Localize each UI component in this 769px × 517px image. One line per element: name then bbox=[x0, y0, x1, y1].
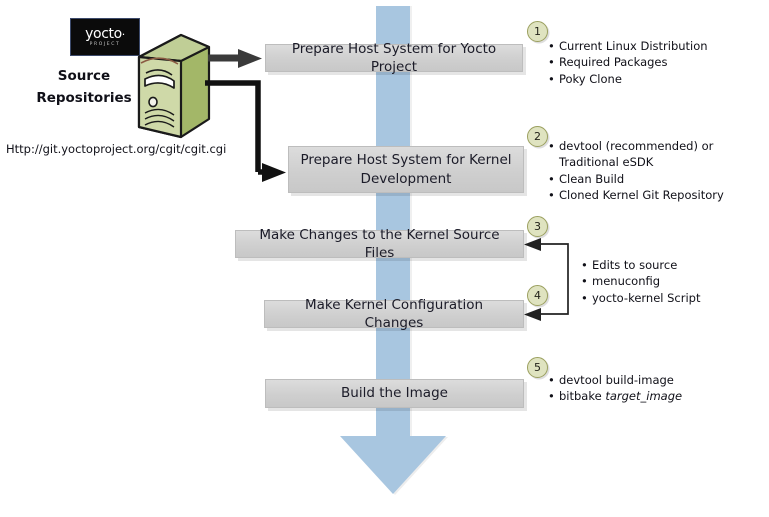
list-item: Clean Build bbox=[559, 171, 760, 187]
list-item: Required Packages bbox=[559, 54, 760, 70]
process-box-step-2[interactable]: Prepare Host System for Kernel Developme… bbox=[288, 146, 524, 193]
step-badge-4: 4 bbox=[527, 285, 548, 306]
diagram-canvas: yocto· PROJECT Source Repositories Http:… bbox=[0, 0, 769, 517]
list-item: menuconfig bbox=[592, 273, 763, 289]
feedback-bracket-icon bbox=[524, 238, 568, 321]
list-item: devtool build-image bbox=[559, 372, 760, 388]
arrow-right-icon bbox=[208, 49, 262, 68]
list-item: devtool (recommended) or Traditional eSD… bbox=[559, 138, 760, 171]
bitbake-target-arg: target_image bbox=[605, 389, 682, 403]
arrow-right-elbow-icon bbox=[205, 83, 286, 182]
list-item: Edits to source bbox=[592, 257, 763, 273]
process-box-step-2-line2: Development bbox=[300, 170, 511, 188]
notes-step-1: Current Linux Distribution Required Pack… bbox=[545, 38, 760, 87]
notes-step-2: devtool (recommended) or Traditional eSD… bbox=[545, 138, 760, 203]
notes-steps-3-4: Edits to source menuconfig yocto-kernel … bbox=[578, 257, 763, 306]
process-box-step-4[interactable]: Make Kernel Configuration Changes bbox=[264, 300, 524, 328]
list-item: Current Linux Distribution bbox=[559, 38, 760, 54]
process-box-step-1[interactable]: Prepare Host System for Yocto Project bbox=[265, 44, 523, 72]
process-box-step-3[interactable]: Make Changes to the Kernel Source Files bbox=[235, 230, 524, 258]
step-badge-3: 3 bbox=[527, 216, 548, 237]
list-item: Poky Clone bbox=[559, 71, 760, 87]
bitbake-command: bitbake bbox=[559, 389, 605, 403]
list-item: yocto-kernel Script bbox=[592, 290, 763, 306]
list-item: Cloned Kernel Git Repository bbox=[559, 187, 760, 203]
notes-step-5: devtool build-image bitbake target_image bbox=[545, 372, 760, 405]
process-box-step-5[interactable]: Build the Image bbox=[265, 379, 524, 408]
list-item: bitbake target_image bbox=[559, 388, 760, 404]
process-box-step-2-line1: Prepare Host System for Kernel bbox=[300, 151, 511, 169]
